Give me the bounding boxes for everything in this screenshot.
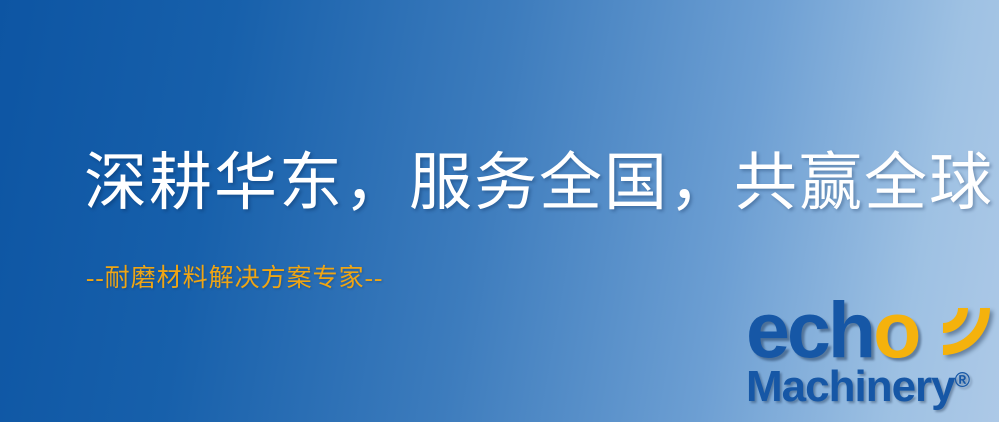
logo-wordmark: echo: [746, 290, 918, 369]
promotional-banner: 深耕华东，服务全国，共赢全球 --耐磨材料解决方案专家-- echo Machi…: [0, 0, 999, 422]
banner-headline: 深耕华东，服务全国，共赢全球: [84, 152, 994, 215]
logo-wordmark-blue: ech: [746, 285, 873, 374]
logo-subword: Machinery®: [746, 365, 970, 409]
logo-wordmark-gold: o: [873, 285, 918, 374]
logo-subword-text: Machinery: [746, 362, 955, 411]
company-logo[interactable]: echo Machinery®: [742, 292, 998, 420]
banner-subheadline: --耐磨材料解决方案专家--: [86, 266, 383, 291]
signal-waves-icon: [925, 290, 999, 364]
registered-trademark-icon: ®: [955, 369, 970, 392]
